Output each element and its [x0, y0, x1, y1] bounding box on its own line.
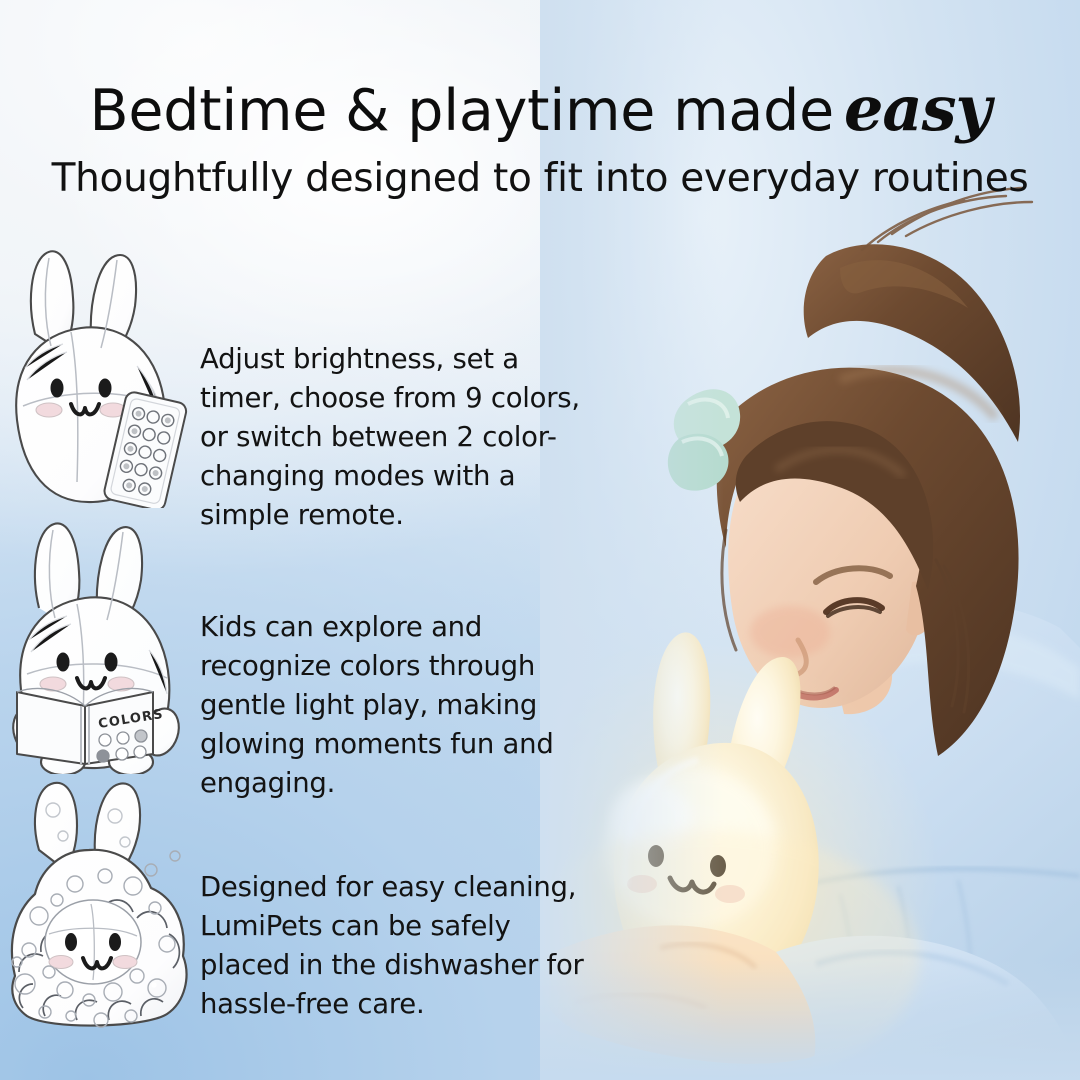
feature-item-color-learning: COLORS Kids can explore and recognize	[0, 514, 640, 776]
feature-text-color-learning: Kids can explore and recognize colors th…	[200, 602, 590, 803]
infographic-canvas: Bedtime & playtime madeeasy Thoughtfully…	[0, 0, 1080, 1080]
headline-main-text: Bedtime & playtime made	[89, 78, 834, 144]
feature-item-remote-control: Adjust brightness, set a timer, choose f…	[0, 238, 640, 514]
bunny-left-eye	[51, 379, 64, 398]
page-subtitle: Thoughtfully designed to fit into everyd…	[0, 156, 1080, 201]
bunny-right-eye	[105, 653, 118, 672]
headline-block: Bedtime & playtime madeeasy Thoughtfully…	[0, 76, 1080, 201]
bunny-left-eye	[57, 653, 70, 672]
bunny-left-eye	[65, 933, 77, 951]
bunny-right-eye	[109, 933, 121, 951]
feature-item-easy-cleaning: Designed for easy cleaning, LumiPets can…	[0, 776, 640, 1044]
feature-list: Adjust brightness, set a timer, choose f…	[0, 238, 640, 1044]
bunny-covered-in-bubbles-illustration	[0, 776, 200, 1038]
bunny-with-remote-illustration	[0, 238, 200, 508]
headline-accent-text: easy	[834, 72, 991, 145]
bunny-right-eye	[99, 379, 112, 398]
page-title: Bedtime & playtime madeeasy	[0, 76, 1080, 142]
feature-text-remote-control: Adjust brightness, set a timer, choose f…	[200, 334, 590, 535]
bunny-reading-colors-book-illustration: COLORS	[0, 514, 200, 774]
feature-text-easy-cleaning: Designed for easy cleaning, LumiPets can…	[200, 862, 590, 1024]
